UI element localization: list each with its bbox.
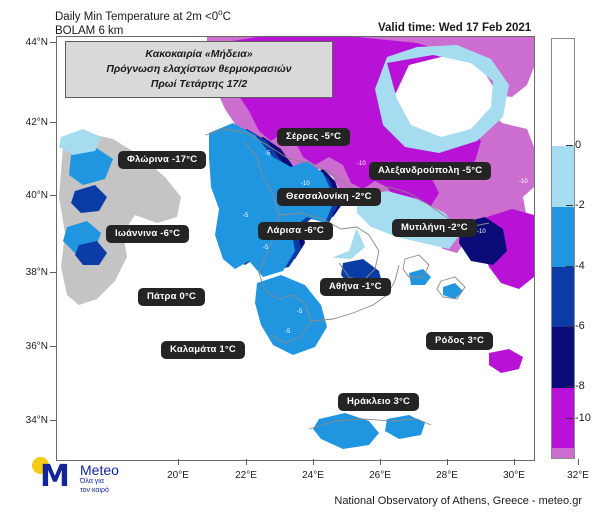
lon-tickmark [514, 459, 515, 465]
logo-brand-text: Meteo [80, 463, 119, 478]
lon-tickmark [380, 459, 381, 465]
lon-tick-24: 24°E [291, 470, 335, 481]
city-label-serres: Σέρρες -5°C [277, 128, 350, 146]
lat-tick-40: 40°N [4, 190, 48, 201]
lat-tickmark [50, 272, 56, 273]
colorbar-tick-minus2: -2 [575, 199, 585, 211]
colorbar-tickmark [566, 386, 573, 387]
colorbar-band-minus6-minus8 [552, 327, 574, 387]
city-label-kalamata: Καλαμάτα 1°C [161, 341, 245, 359]
colorbar-band-above-0 [552, 39, 574, 146]
contour-label: -5 [263, 245, 269, 251]
colorbar-tickmark [566, 266, 573, 267]
lon-tick-28: 28°E [425, 470, 469, 481]
colorbar-tickmark [566, 418, 573, 419]
city-label-irakleio: Ηράκλειο 3°C [338, 393, 419, 411]
logo-tagline-line-2: τον καιρό [80, 487, 109, 496]
colorbar-tickmark [566, 205, 573, 206]
lat-tickmark [50, 420, 56, 421]
city-label-patra: Πάτρα 0°C [138, 288, 205, 306]
city-label-rodos: Ρόδος 3°C [426, 332, 493, 350]
title-line-1: Daily Min Temperature at 2m <0oC [55, 6, 231, 24]
lon-tick-26: 26°E [358, 470, 402, 481]
colorbar-band-0-minus2 [552, 146, 574, 206]
colorbar-band-minus4-minus6 [552, 267, 574, 327]
colorbar-tick-minus4: -4 [575, 260, 585, 272]
lat-tickmark [50, 122, 56, 123]
map-plot-area: -5 -10 -10 -10 -5 -5 -10 -5 -10 -10 -5 -… [56, 36, 535, 461]
lon-tickmark [447, 459, 448, 465]
footer-credit: National Observatory of Athens, Greece -… [334, 495, 582, 507]
contour-label: -10 [519, 179, 528, 185]
lat-tickmark [50, 346, 56, 347]
lon-tickmark [246, 459, 247, 465]
lon-tickmark [578, 459, 579, 465]
chart-title: Daily Min Temperature at 2m <0oC BOLAM 6… [55, 6, 231, 38]
lat-tick-44: 44°N [4, 37, 48, 48]
contour-label: -10 [477, 229, 486, 235]
logo-tagline-line-1: Όλα για [80, 478, 109, 487]
city-label-athina: Αθήνα -1°C [320, 278, 391, 296]
city-label-thessaloniki: Θεσσαλονίκη -2°C [277, 188, 381, 206]
lat-tick-36: 36°N [4, 341, 48, 352]
lat-tick-34: 34°N [4, 415, 48, 426]
colorbar-band-below-minus10 [552, 448, 574, 459]
lon-tick-30: 30°E [492, 470, 536, 481]
lon-tick-32: 32°E [556, 470, 600, 481]
forecast-headline-box: Κακοκαιρία «Μήδεια» Πρόγνωση ελαχίστων θ… [65, 41, 333, 98]
city-label-mytilini: Μυτιλήνη -2°C [392, 219, 477, 237]
colorbar-tick-minus6: -6 [575, 320, 585, 332]
contour-label: -10 [357, 161, 366, 167]
lat-tickmark [50, 195, 56, 196]
lon-tickmark [178, 459, 179, 465]
headline-line-3: Πρωί Τετάρτης 17/2 [151, 77, 247, 92]
lat-tick-42: 42°N [4, 117, 48, 128]
colorbar-tick-0: 0 [575, 139, 581, 151]
city-label-larisa: Λάρισα -6°C [258, 222, 333, 240]
city-label-florina: Φλώρινα -17°C [118, 151, 206, 169]
colorbar-band-minus2-minus4 [552, 207, 574, 267]
lat-tickmark [50, 42, 56, 43]
colorbar-tickmark [566, 145, 573, 146]
lat-tick-38: 38°N [4, 267, 48, 278]
contour-label: -5 [297, 309, 303, 315]
lon-tick-22: 22°E [224, 470, 268, 481]
colorbar-tickmark [566, 326, 573, 327]
temperature-map: -5 -10 -10 -10 -5 -5 -10 -5 -10 -10 -5 -… [57, 37, 534, 460]
headline-line-2: Πρόγνωση ελαχίστων θερμοκρασιών [106, 62, 291, 77]
valid-time-label: Valid time: Wed 17 Feb 2021 [378, 22, 531, 34]
city-label-alexandroupoli: Αλεξανδρούπολη -5°C [369, 162, 491, 180]
contour-label: -5 [243, 213, 249, 219]
lon-tickmark [313, 459, 314, 465]
contour-label: -10 [301, 181, 310, 187]
meteo-logo[interactable]: M Meteo Όλα για τον καιρό [28, 455, 178, 497]
city-label-ioannina: Ιωάννινα -6°C [106, 225, 189, 243]
headline-line-1: Κακοκαιρία «Μήδεια» [145, 47, 252, 62]
colorbar-tick-minus10: -10 [575, 412, 591, 424]
contour-label: -5 [265, 151, 271, 157]
temperature-colorbar [551, 38, 575, 459]
colorbar-tick-minus8: -8 [575, 380, 585, 392]
contour-label: -5 [285, 329, 291, 335]
logo-letter-m: M [40, 462, 69, 492]
logo-tagline: Όλα για τον καιρό [80, 478, 109, 495]
